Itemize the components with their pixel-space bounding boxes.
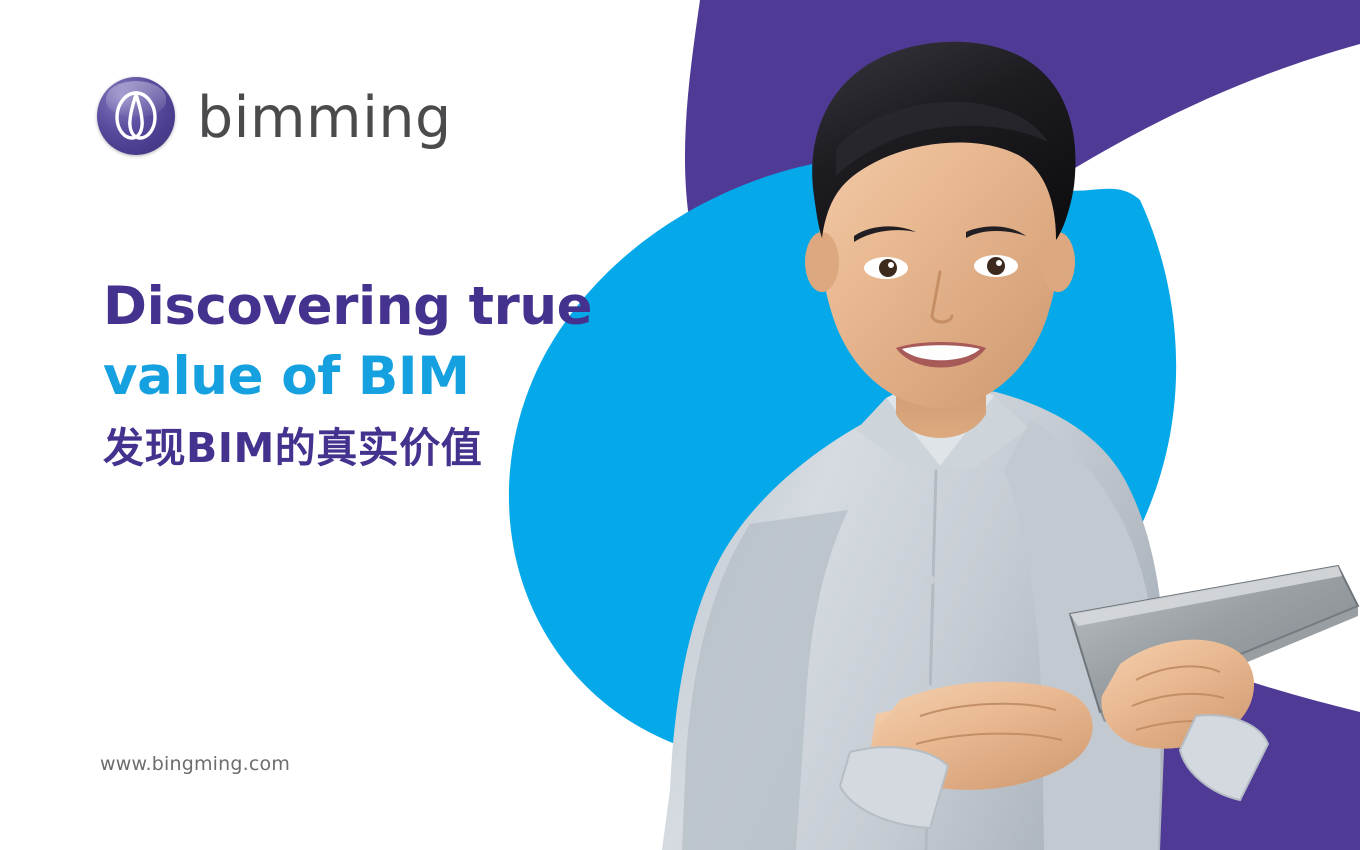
ear-left bbox=[805, 232, 839, 292]
headline-line-accent: value of BIM bbox=[103, 342, 623, 412]
pupil-right bbox=[987, 257, 1005, 275]
shirt-button bbox=[925, 575, 935, 585]
brand-logo-lockup[interactable]: bimming bbox=[97, 70, 452, 162]
website-url[interactable]: www.bingming.com bbox=[100, 752, 290, 776]
hero-photo-man-with-tablet bbox=[600, 0, 1360, 850]
headline-line-primary: Discovering true bbox=[103, 272, 623, 342]
eye-highlight-right bbox=[996, 260, 1002, 266]
headline-block: Discovering true value of BIM 发现BIM的真实价值 bbox=[103, 272, 623, 474]
shirt-cuff-right bbox=[1180, 715, 1268, 800]
slide-canvas: bimming Discovering true value of BIM 发现… bbox=[0, 0, 1360, 850]
pupil-left bbox=[879, 259, 897, 277]
subheadline-chinese: 发现BIM的真实价值 bbox=[103, 422, 623, 474]
eye-highlight-left bbox=[888, 262, 894, 268]
brand-wordmark: bimming bbox=[197, 90, 452, 147]
bimming-loop-logo-icon bbox=[97, 77, 175, 155]
ear-right bbox=[1041, 232, 1075, 292]
